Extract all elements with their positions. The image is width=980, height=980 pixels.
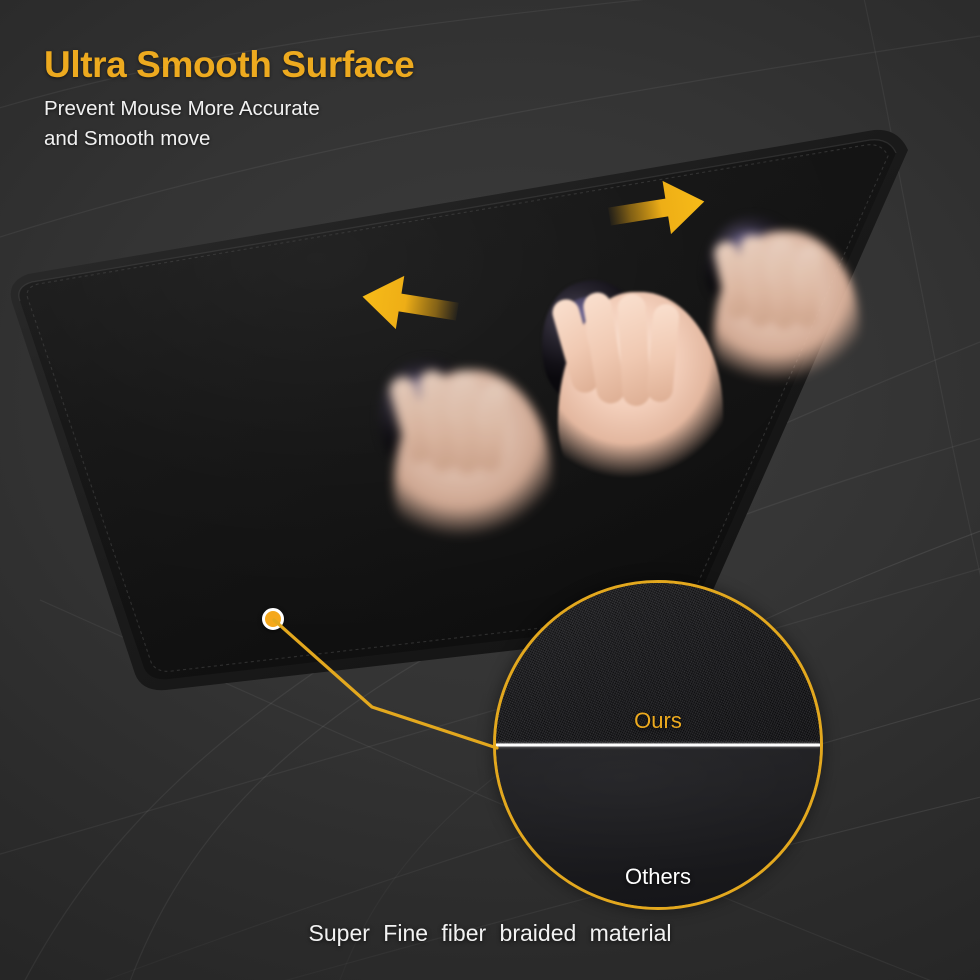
product-feature-image: Ours Others Ultra Smooth Surface Prevent… [0,0,980,980]
page-title: Ultra Smooth Surface [44,44,564,85]
headline-block: Ultra Smooth Surface Prevent Mouse More … [44,44,564,153]
material-caption: Super Fine fiber braided material [0,920,980,947]
page-subtitle: Prevent Mouse More Accurate and Smooth m… [44,94,564,152]
